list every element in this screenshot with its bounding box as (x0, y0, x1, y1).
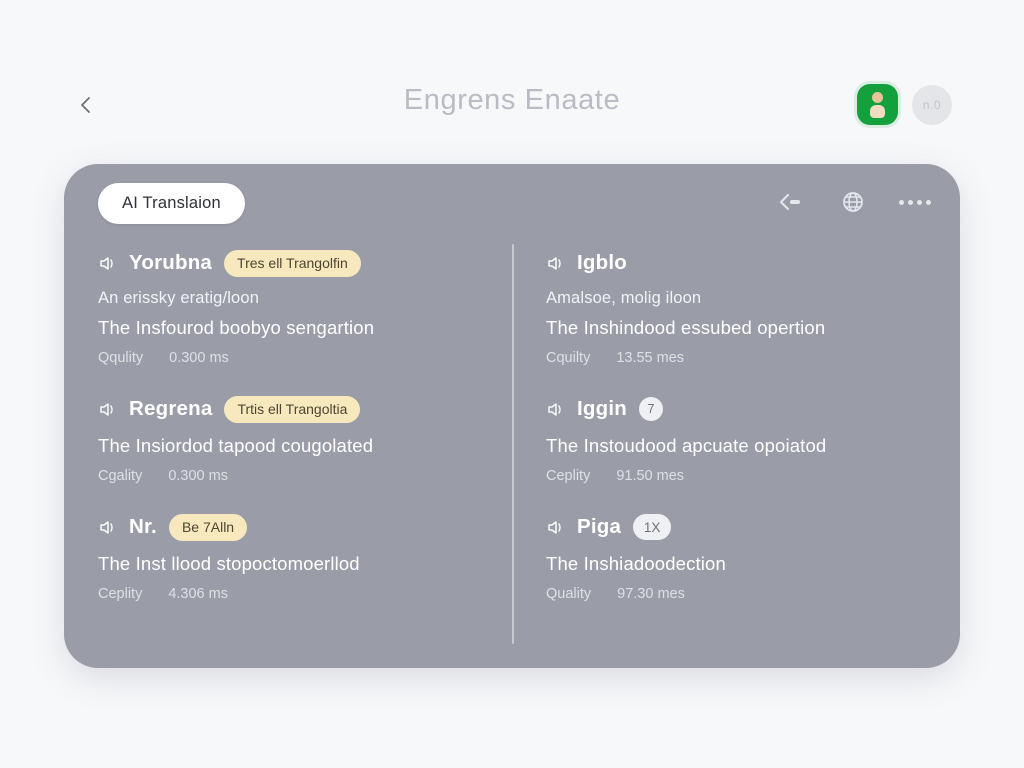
green-person-badge-icon[interactable] (857, 84, 898, 125)
entry-mainline: The Instoudood apcuate opoiatod (546, 435, 930, 457)
meta-value: 4.306 ms (168, 586, 228, 602)
entry-header: Piga 1X (546, 510, 930, 544)
meta-label: Ceplity (98, 586, 142, 602)
speaker-icon[interactable] (98, 518, 117, 537)
back-arrow-dash-icon[interactable] (776, 188, 806, 216)
list-item[interactable]: Regrena Trtis ell Trangoltia The Insiord… (98, 392, 482, 484)
meta-value: 91.50 mes (616, 468, 684, 484)
speaker-icon[interactable] (98, 400, 117, 419)
entry-meta: Ceplity 91.50 mes (546, 468, 930, 484)
entry-subline: Amalsoe, molig iloon (546, 289, 930, 308)
translation-card: AI Translaion (64, 164, 960, 668)
list-item[interactable]: Yorubna Tres ell Trangolfin An erissky e… (98, 246, 482, 366)
entry-header: Regrena Trtis ell Trangoltia (98, 392, 482, 426)
dot (926, 200, 931, 205)
more-dots-icon[interactable] (900, 188, 930, 216)
entry-tag[interactable]: Trtis ell Trangoltia (224, 396, 360, 423)
card-header: AI Translaion (64, 164, 960, 242)
meta-value: 0.300 ms (169, 350, 229, 366)
entry-mainline: The Insfourod boobyo sengartion (98, 317, 482, 339)
meta-label: Cquilty (546, 350, 590, 366)
right-column: Igblo Amalsoe, molig iloon The Inshindoo… (512, 242, 960, 668)
language-name: Igblo (577, 251, 627, 275)
entry-header: Yorubna Tres ell Trangolfin (98, 246, 482, 280)
entry-meta: Cquilty 13.55 mes (546, 350, 930, 366)
tab-ai-translation[interactable]: AI Translaion (98, 183, 245, 224)
language-name: Regrena (129, 397, 212, 421)
topbar-actions: n.0 (857, 84, 952, 125)
badge-figure-body (870, 105, 885, 118)
entry-count-badge[interactable]: 7 (639, 397, 663, 421)
speaker-icon[interactable] (546, 400, 565, 419)
entry-header: Igblo (546, 246, 930, 280)
meta-value: 97.30 mes (617, 586, 685, 602)
entry-meta: Ceplity 4.306 ms (98, 586, 482, 602)
meta-label: Quality (546, 586, 591, 602)
top-bar: Engrens Enaate n.0 (0, 0, 1024, 160)
meta-value: 13.55 mes (616, 350, 684, 366)
avatar[interactable]: n.0 (912, 85, 952, 125)
entry-speed-badge[interactable]: 1X (633, 514, 671, 540)
list-item[interactable]: Iggin 7 The Instoudood apcuate opoiatod … (546, 392, 930, 484)
entry-meta: Quality 97.30 mes (546, 586, 930, 602)
language-name: Iggin (577, 397, 627, 421)
entry-tag[interactable]: Tres ell Trangolfin (224, 250, 361, 277)
meta-label: Cgality (98, 468, 142, 484)
entry-mainline: The Insiordod tapood cougolated (98, 435, 482, 457)
globe-icon[interactable] (838, 188, 868, 216)
left-column: Yorubna Tres ell Trangolfin An erissky e… (64, 242, 512, 668)
meta-label: Qqulity (98, 350, 143, 366)
meta-value: 0.300 ms (168, 468, 228, 484)
dot (908, 200, 913, 205)
entry-mainline: The Inst llood stopoctomoerllod (98, 553, 482, 575)
entry-meta: Qqulity 0.300 ms (98, 350, 482, 366)
entry-mainline: The Inshindood essubed opertion (546, 317, 930, 339)
entry-columns: Yorubna Tres ell Trangolfin An erissky e… (64, 242, 960, 668)
entry-header: Nr. Be 7Alln (98, 510, 482, 544)
entry-mainline: The Inshiadoodection (546, 553, 930, 575)
list-item[interactable]: Nr. Be 7Alln The Inst llood stopoctomoer… (98, 510, 482, 602)
speaker-icon[interactable] (546, 518, 565, 537)
language-name: Yorubna (129, 251, 212, 275)
dots-group (899, 200, 931, 205)
list-item[interactable]: Piga 1X The Inshiadoodection Quality 97.… (546, 510, 930, 602)
entry-subline: An erissky eratig/loon (98, 289, 482, 308)
language-name: Piga (577, 515, 621, 539)
card-header-icons (776, 188, 930, 216)
dot (899, 200, 904, 205)
meta-label: Ceplity (546, 468, 590, 484)
entry-header: Iggin 7 (546, 392, 930, 426)
list-item[interactable]: Igblo Amalsoe, molig iloon The Inshindoo… (546, 246, 930, 366)
badge-figure-head (872, 92, 883, 103)
speaker-icon[interactable] (546, 254, 565, 273)
dot (917, 200, 922, 205)
language-name: Nr. (129, 515, 157, 539)
entry-meta: Cgality 0.300 ms (98, 468, 482, 484)
entry-tag[interactable]: Be 7Alln (169, 514, 247, 541)
speaker-icon[interactable] (98, 254, 117, 273)
